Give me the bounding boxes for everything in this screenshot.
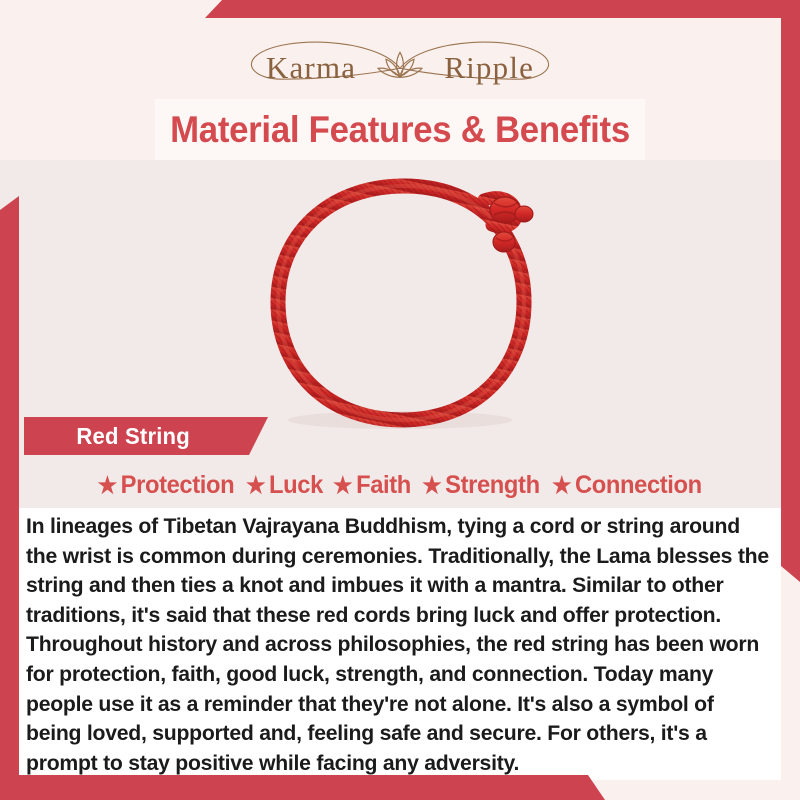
brand-logo: Karma Ripple [0, 36, 800, 98]
product-image [0, 160, 800, 508]
description-text: In lineages of Tibetan Vajrayana Buddhis… [26, 512, 774, 778]
benefit-label: Connection [575, 471, 702, 500]
star-icon: ★ [422, 474, 441, 497]
benefit-item-protection: ★ Protection [97, 471, 234, 500]
benefit-item-strength: ★ Strength [422, 471, 540, 500]
benefit-item-faith: ★ Faith [333, 471, 411, 500]
star-icon: ★ [552, 474, 571, 497]
benefit-item-luck: ★ Luck [246, 471, 323, 500]
page-title: Material Features & Benefits [170, 99, 631, 160]
lotus-icon [377, 48, 423, 82]
benefit-label: Faith [356, 471, 411, 500]
brand-name-first: Karma [266, 52, 356, 83]
benefit-label: Protection [120, 471, 234, 500]
material-banner: Red String [24, 417, 268, 455]
brand-name-second: Ripple [444, 52, 534, 83]
benefit-item-connection: ★ Connection [552, 471, 702, 500]
benefit-label: Strength [445, 471, 540, 500]
decor-bar-right [781, 18, 800, 582]
star-icon: ★ [246, 474, 265, 497]
bracelet-knot [484, 197, 533, 252]
benefit-label: Luck [269, 471, 323, 500]
material-banner-label: Red String [76, 423, 190, 450]
benefits-list: ★ Protection ★ Luck ★ Faith ★ Strength ★… [18, 465, 782, 505]
infographic-card: Karma Ripple Material Features & Benefit… [0, 0, 800, 800]
decor-bar-left [0, 196, 19, 784]
star-icon: ★ [97, 474, 116, 497]
star-icon: ★ [333, 474, 352, 497]
red-string-bracelet-illustration [252, 170, 552, 440]
